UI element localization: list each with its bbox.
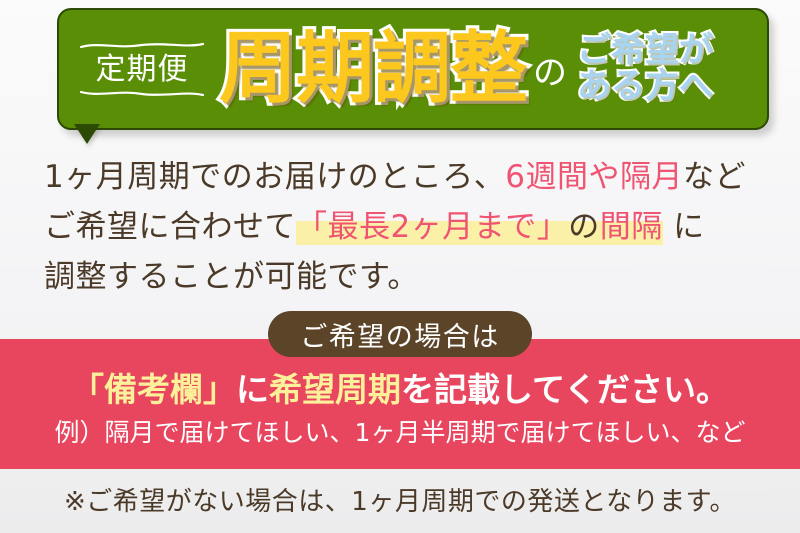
subscription-badge: 定期便	[77, 38, 207, 101]
subscription-badge-label: 定期便	[77, 53, 207, 86]
pink-text-b: を記載してください。	[401, 370, 729, 409]
body-line-1-text-a: 1ヶ月周期でのお届けのところ、	[44, 159, 505, 195]
body-line-1-emphasis-a: 6週間	[505, 159, 588, 195]
header-title: 周期調整	[219, 30, 527, 108]
pink-emphasis-a: 「備考欄」	[71, 370, 236, 409]
header-content: 定期便 周期調整 の ご希望が ある方へ	[57, 8, 769, 130]
body-line-1-text-c: など	[683, 159, 746, 195]
wave-rule-top-icon	[79, 41, 205, 50]
body-line-2-emphasis-a: 「最長2ヶ月まで」	[296, 209, 568, 245]
body-line-1: 1ヶ月周期でのお届けのところ、6週間や隔月など	[44, 152, 774, 202]
body-line-2: ご希望に合わせて「最長2ヶ月まで」の間隔 に	[44, 202, 774, 252]
pink-emphasis-b: 希望周期	[269, 370, 401, 409]
body-line-2-text-a: ご希望に合わせて	[44, 209, 296, 245]
header-section: 定期便 周期調整 の ご希望が ある方へ	[0, 0, 800, 150]
pink-main-line: 「備考欄」に希望周期を記載してください。	[0, 363, 800, 411]
wish-case-pill: ご希望の場合は	[268, 311, 532, 357]
header-particle: の	[533, 45, 567, 94]
promo-banner: 定期便 周期調整 の ご希望が ある方へ 1ヶ月周期でのお届けのところ、6週間や…	[0, 0, 800, 533]
wish-case-pill-label: ご希望の場合は	[300, 315, 500, 354]
body-line-1-emphasis-b: 隔月	[620, 159, 683, 195]
wave-rule-bottom-icon	[79, 89, 205, 98]
header-wish-line-1: ご希望が	[577, 33, 713, 69]
body-line-2-emphasis-b: 間隔	[600, 209, 663, 245]
header-wish-line-2: ある方へ	[577, 69, 713, 105]
body-line-1-text-b: や	[588, 159, 620, 195]
body-line-2-text-b: の	[568, 209, 600, 245]
body-line-2-text-c: に	[663, 209, 705, 245]
footer-note: ※ご希望がない場合は、1ヶ月周期での発送となります。	[0, 481, 800, 518]
body-paragraph: 1ヶ月周期でのお届けのところ、6週間や隔月など ご希望に合わせて「最長2ヶ月まで…	[44, 152, 774, 302]
pink-example-line: 例）隔月で届けてほしい、1ヶ月半周期で届けてほしい、など	[0, 413, 800, 449]
pink-text-a: に	[236, 370, 269, 409]
body-line-3: 調整することが可能です。	[44, 252, 774, 302]
pink-callout-section: 「備考欄」に希望周期を記載してください。 例）隔月で届けてほしい、1ヶ月半周期で…	[0, 339, 800, 469]
header-wish-block: ご希望が ある方へ	[577, 33, 713, 104]
